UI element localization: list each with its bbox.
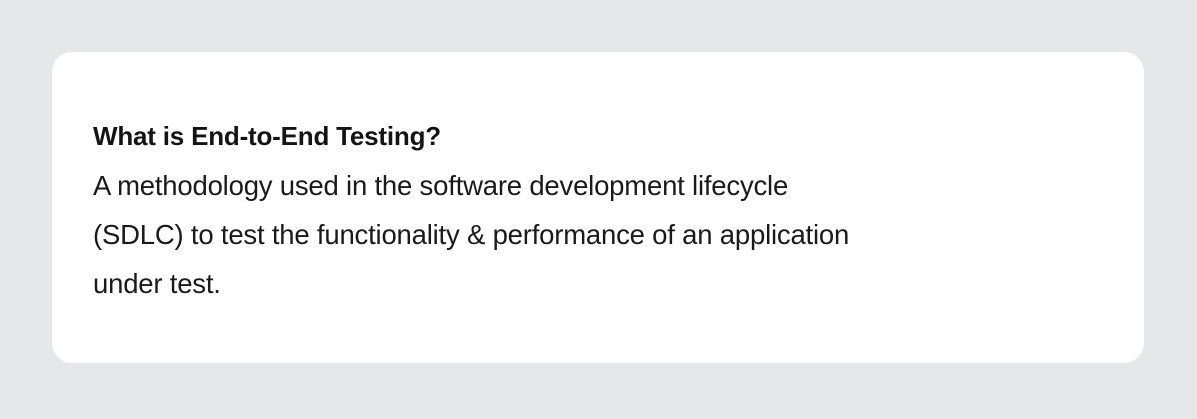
definition-card: What is End-to-End Testing? A methodolog… xyxy=(52,52,1144,363)
card-body-line-3: under test. xyxy=(93,259,1053,308)
card-heading: What is End-to-End Testing? xyxy=(93,112,1103,161)
card-body-text: A methodology used in the software devel… xyxy=(93,161,1053,308)
page-root: What is End-to-End Testing? A methodolog… xyxy=(0,0,1197,419)
card-body-line-2: (SDLC) to test the functionality & perfo… xyxy=(93,210,1053,259)
card-body-line-1: A methodology used in the software devel… xyxy=(93,161,1053,210)
